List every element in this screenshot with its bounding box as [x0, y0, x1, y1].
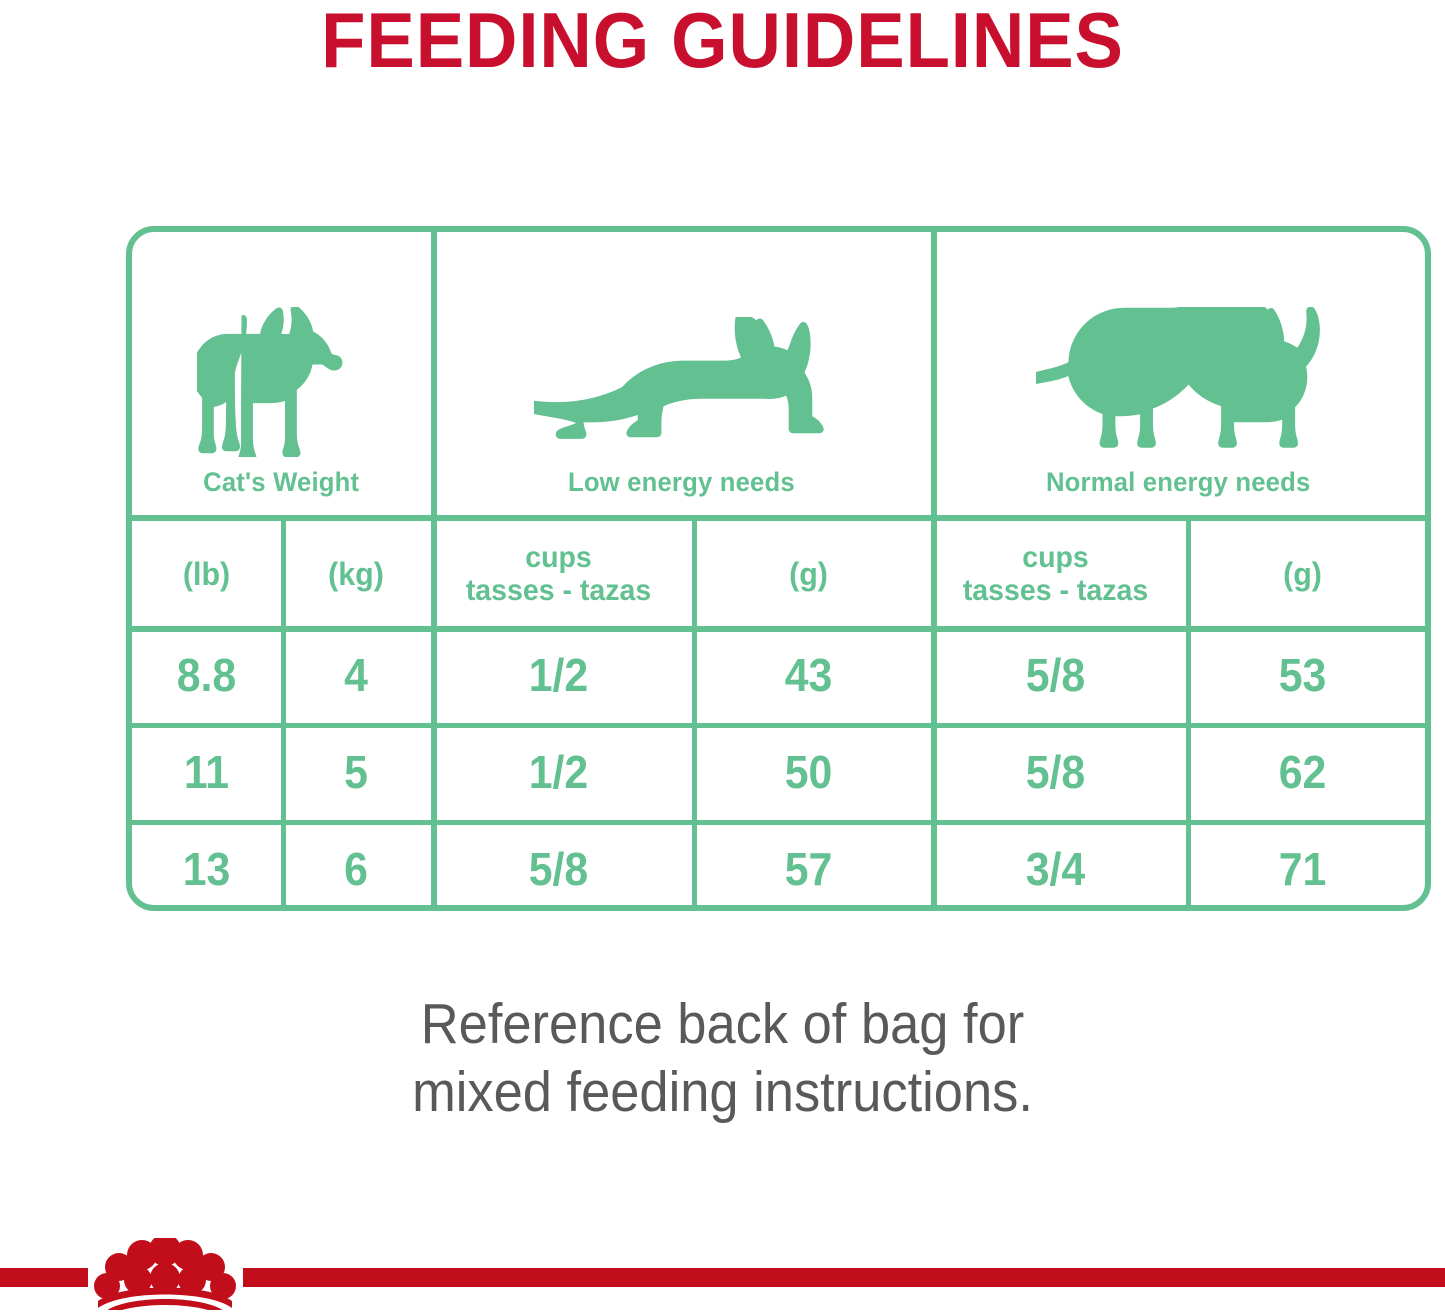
table-icon-header-row: Cat's Weight Low energy needs Normal ene… — [132, 232, 1425, 515]
brand-bar — [0, 1238, 1445, 1310]
subheader-low-cups-line2: tasses - tazas — [466, 574, 651, 607]
subheader-low-cups-line1: cups — [466, 541, 651, 574]
cell-low-cups: 1/2 — [440, 626, 677, 723]
cell-weight-lb: 8.8 — [137, 626, 276, 723]
cell-low-cups: 5/8 — [440, 820, 677, 917]
cell-normal-cups: 5/8 — [940, 723, 1172, 820]
header-label-normal-energy: Normal energy needs — [1046, 467, 1310, 497]
cat-lying-icon — [534, 317, 829, 457]
header-cell-low-energy: Low energy needs — [431, 232, 931, 515]
header-cell-cats-weight: Cat's Weight — [132, 232, 431, 515]
cell-weight-lb: 11 — [137, 723, 276, 820]
cell-normal-grams: 62 — [1189, 723, 1417, 820]
header-label-low-energy: Low energy needs — [568, 467, 795, 497]
subheader-normal-cups-line2: tasses - tazas — [963, 574, 1148, 607]
cell-normal-grams: 71 — [1189, 820, 1417, 917]
subheader-low-cups: cups tasses - tazas — [437, 521, 679, 626]
cell-normal-grams: 53 — [1189, 626, 1417, 723]
table-row: 8.8 4 1/2 43 5/8 53 — [132, 626, 1425, 723]
feeding-guidelines-table: Cat's Weight Low energy needs Normal ene… — [126, 226, 1431, 911]
cell-low-grams: 50 — [695, 723, 923, 820]
cell-low-grams: 57 — [695, 820, 923, 917]
header-cell-normal-energy: Normal energy needs — [931, 232, 1425, 515]
table-row: 13 6 5/8 57 3/4 71 — [132, 820, 1425, 917]
cell-normal-cups: 5/8 — [940, 626, 1172, 723]
cell-normal-cups: 3/4 — [940, 820, 1172, 917]
subheader-weight-lb: (lb) — [136, 521, 278, 626]
table-row: 11 5 1/2 50 5/8 62 — [132, 723, 1425, 820]
brand-bar-left-rule — [0, 1268, 88, 1287]
header-label-cats-weight: Cat's Weight — [203, 467, 359, 497]
cell-weight-kg: 4 — [286, 626, 426, 723]
cell-weight-lb: 13 — [137, 820, 276, 917]
cat-standing-icon — [197, 307, 367, 457]
subheader-weight-kg: (kg) — [285, 521, 428, 626]
footer-note-line1: Reference back of bag for — [58, 990, 1387, 1058]
footer-note: Reference back of bag for mixed feeding … — [58, 990, 1387, 1126]
cell-low-cups: 1/2 — [440, 723, 677, 820]
royal-canin-crown-logo — [86, 1238, 244, 1315]
table-subheader-row: (lb) (kg) cups tasses - tazas (g) cups t… — [132, 521, 1425, 626]
subheader-normal-grams: (g) — [1186, 521, 1419, 626]
cell-low-grams: 43 — [695, 626, 923, 723]
footer-note-line2: mixed feeding instructions. — [58, 1058, 1387, 1126]
cell-weight-kg: 5 — [286, 723, 426, 820]
subheader-low-grams: (g) — [692, 521, 925, 626]
page-title: FEEDING GUIDELINES — [51, 0, 1395, 80]
cell-weight-kg: 6 — [286, 820, 426, 917]
subheader-normal-cups-line1: cups — [963, 541, 1148, 574]
brand-bar-right-rule — [243, 1268, 1445, 1287]
cat-walking-icon — [1036, 307, 1321, 457]
subheader-normal-cups: cups tasses - tazas — [937, 521, 1174, 626]
